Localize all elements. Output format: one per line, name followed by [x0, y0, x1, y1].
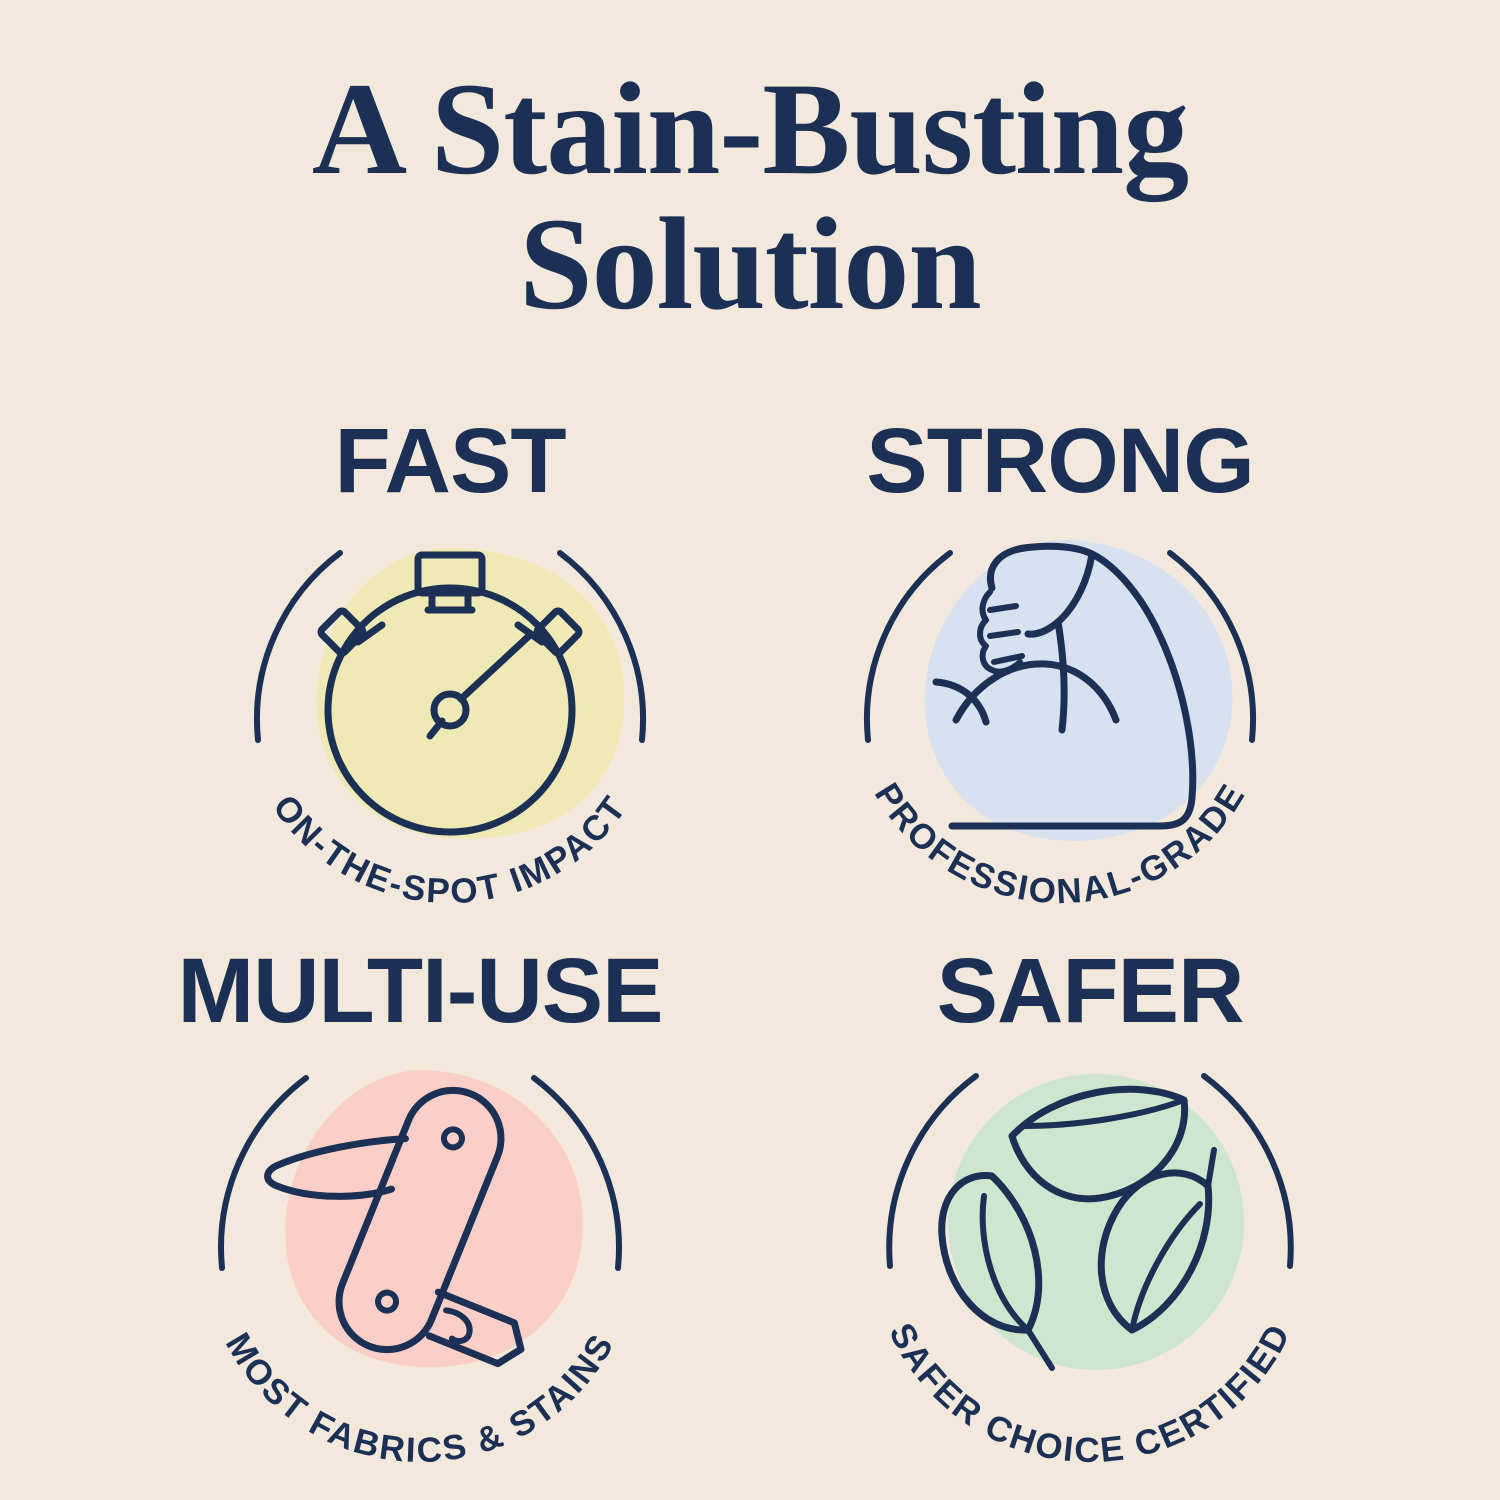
promo-graphic: A Stain-Busting Solution FAST	[0, 0, 1500, 1500]
benefit-badge-multi-use: MULTI-USE MOST FABRICS	[100, 950, 740, 1470]
benefit-badge-safer: SAFER SAFER	[770, 950, 1410, 1470]
benefit-badge-strong: STRONG	[740, 420, 1380, 940]
badge-title-safer: SAFER	[937, 940, 1244, 1042]
badge-blob-multi-use	[285, 1070, 583, 1367]
page-title: A Stain-Busting Solution	[0, 62, 1500, 331]
badge-title-multi-use: MULTI-USE	[177, 940, 662, 1042]
badge-title-fast: FAST	[334, 410, 566, 512]
benefit-badge-fast: FAST	[130, 420, 770, 940]
badge-blob-strong	[925, 540, 1233, 841]
badge-title-strong: STRONG	[866, 410, 1254, 512]
benefit-badge-grid: FAST	[0, 420, 1500, 1480]
